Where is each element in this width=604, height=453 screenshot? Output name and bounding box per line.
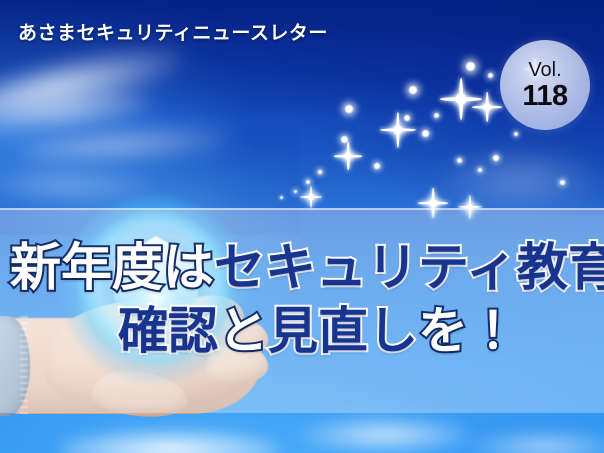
volume-number: 118 [522, 82, 567, 111]
headline-segment-navy: セキュリティ教育 [214, 243, 604, 294]
headline-band-edge [0, 208, 604, 210]
headline-line-2: 確認と見直しを！ [0, 306, 604, 356]
headline-segment-navy: 確認 [118, 306, 218, 356]
volume-badge: Vol. 118 [500, 40, 590, 130]
headline-segment-navy: 見直し [268, 306, 418, 356]
headline-segment-white: と [218, 306, 268, 356]
volume-label: Vol. [528, 60, 561, 80]
headline-line-1: 新年度はセキュリティ教育の [0, 243, 604, 294]
headline-segment-white: を！ [418, 306, 518, 356]
headline: 新年度はセキュリティ教育の 確認と見直しを！ [0, 243, 604, 356]
headline-segment-white: 新年度は [10, 243, 214, 294]
newsletter-banner: あさまセキュリティニュースレター Vol. 118 新年度はセキュリティ教育の … [0, 0, 604, 453]
page-title: あさまセキュリティニュースレター [18, 24, 328, 43]
